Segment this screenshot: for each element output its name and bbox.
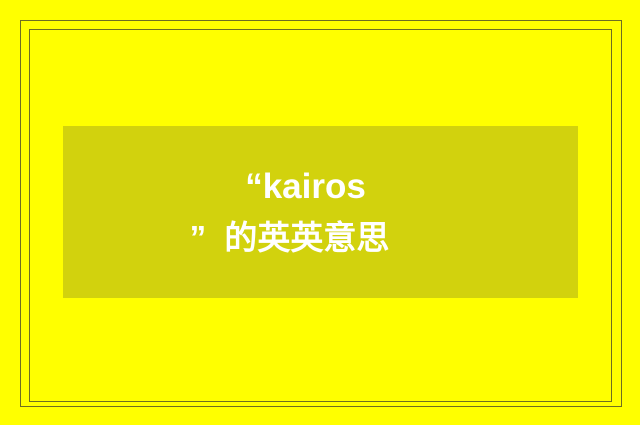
title-line-1: “kairos: [245, 166, 366, 208]
title-line-2: ” 的英英意思: [190, 218, 390, 258]
title-plate: “kairos ” 的英英意思: [63, 126, 578, 298]
poster-canvas: “kairos ” 的英英意思: [0, 0, 640, 425]
